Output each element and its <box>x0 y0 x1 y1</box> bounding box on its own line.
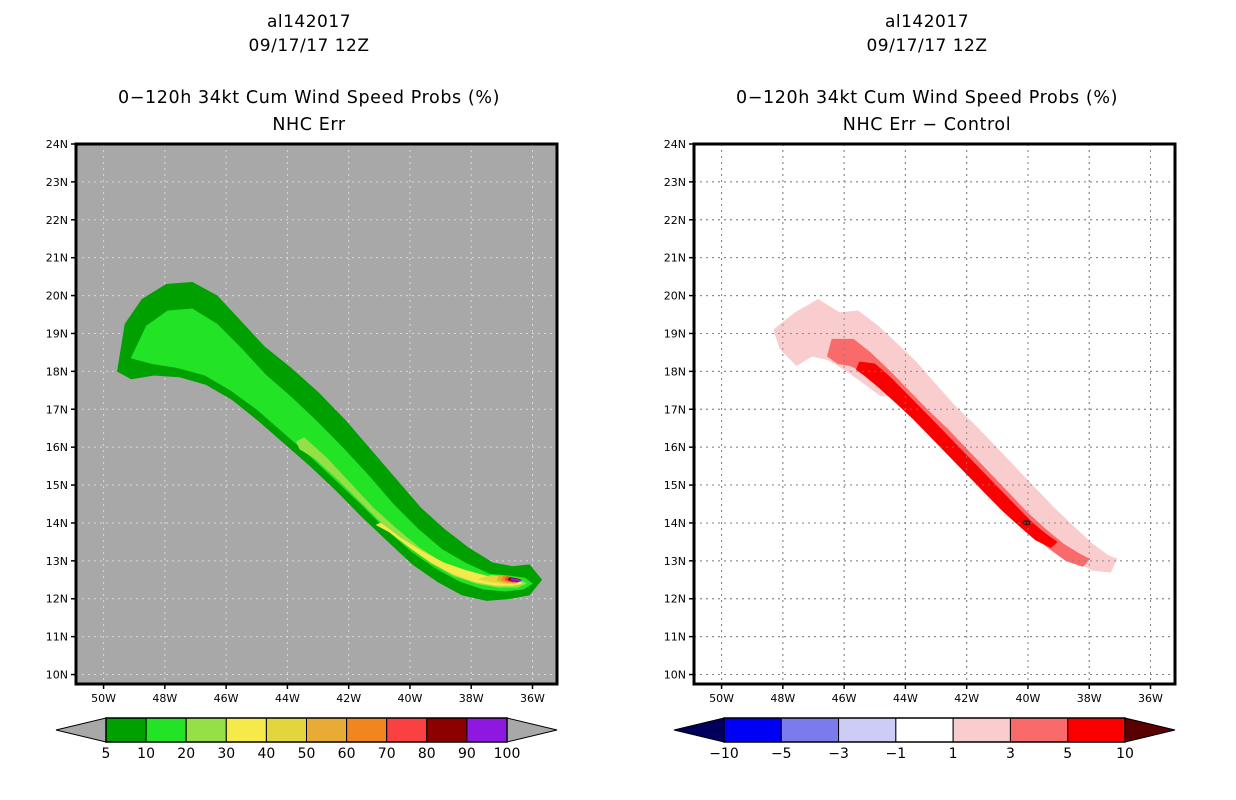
colorbar-tick-label: 50 <box>298 746 316 762</box>
colorbar-swatch-10 <box>146 718 186 742</box>
x-tick-label: 48W <box>770 692 795 705</box>
colorbar-tick-label: 20 <box>177 746 195 762</box>
panel-nhc-err: al142017 09/17/17 12Z 0−120h 34kt Cum Wi… <box>0 0 618 800</box>
y-tick-label: 16N <box>664 441 686 454</box>
colorbar-tick-label: 60 <box>338 746 356 762</box>
x-tick-label: 40W <box>1016 692 1041 705</box>
y-tick-label: 10N <box>664 669 686 682</box>
y-tick-label: 24N <box>46 138 68 151</box>
colorbar-under-arrow <box>674 718 724 742</box>
x-tick-label: 46W <box>214 692 239 705</box>
y-tick-label: 15N <box>46 479 68 492</box>
y-tick-label: 21N <box>664 252 686 265</box>
plot-area-nhc-err-minus-control: 50W48W46W44W42W40W38W36W10N11N12N13N14N1… <box>618 0 1236 710</box>
y-tick-label: 13N <box>46 555 68 568</box>
colorbar-tick-label: 1 <box>949 746 958 762</box>
y-tick-label: 12N <box>46 593 68 606</box>
y-tick-label: 19N <box>664 327 686 340</box>
colorbar-tick-label: −10 <box>709 746 739 762</box>
probability-colorbar[interactable]: 5102030405060708090100 <box>0 705 618 765</box>
y-tick-label: 23N <box>664 176 686 189</box>
colorbar-tick-label: 70 <box>378 746 396 762</box>
x-tick-label: 38W <box>459 692 484 705</box>
colorbar-swatch--10 <box>724 718 781 742</box>
colorbar-swatch-3 <box>1010 718 1067 742</box>
colorbar-tick-label: 5 <box>102 746 111 762</box>
colorbar-tick-label: 90 <box>458 746 476 762</box>
y-tick-label: 12N <box>664 593 686 606</box>
y-tick-label: 24N <box>664 138 686 151</box>
wind-speed-probability-figure: al142017 09/17/17 12Z 0−120h 34kt Cum Wi… <box>0 0 1236 800</box>
colorbar-swatch-90 <box>467 718 507 742</box>
x-tick-label: 44W <box>275 692 300 705</box>
y-tick-label: 11N <box>46 631 68 644</box>
x-tick-label: 40W <box>398 692 423 705</box>
colorbar-swatch-1 <box>953 718 1010 742</box>
colorbar-swatch-5 <box>106 718 146 742</box>
x-tick-label: 48W <box>152 692 177 705</box>
colorbar-swatch--1 <box>896 718 953 742</box>
colorbar-tick-label: 80 <box>418 746 436 762</box>
x-tick-label: 44W <box>893 692 918 705</box>
y-tick-label: 17N <box>46 403 68 416</box>
x-tick-label: 50W <box>91 692 116 705</box>
y-tick-label: 18N <box>46 365 68 378</box>
panel-nhc-err-minus-control: al142017 09/17/17 12Z 0−120h 34kt Cum Wi… <box>618 0 1236 800</box>
y-tick-label: 18N <box>664 365 686 378</box>
colorbar-swatch-80 <box>427 718 467 742</box>
colorbar-swatch-60 <box>347 718 387 742</box>
y-tick-label: 17N <box>664 403 686 416</box>
colorbar-tick-label: 10 <box>1116 746 1134 762</box>
y-tick-label: 22N <box>664 214 686 227</box>
plot-area-nhc-err: 50W48W46W44W42W40W38W36W10N11N12N13N14N1… <box>0 0 618 710</box>
colorbar-swatch-5 <box>1068 718 1125 742</box>
colorbar-swatch--5 <box>781 718 838 742</box>
colorbar-swatch-40 <box>266 718 306 742</box>
colorbar-tick-label: 30 <box>217 746 235 762</box>
colorbar-under-arrow <box>56 718 106 742</box>
y-tick-label: 20N <box>664 290 686 303</box>
colorbar-tick-label: 5 <box>1063 746 1072 762</box>
x-tick-label: 38W <box>1077 692 1102 705</box>
colorbar-tick-label: 10 <box>137 746 155 762</box>
colorbar-tick-label: −5 <box>771 746 792 762</box>
y-tick-label: 11N <box>664 631 686 644</box>
y-tick-label: 10N <box>46 669 68 682</box>
x-tick-label: 46W <box>832 692 857 705</box>
colorbar-tick-label: 3 <box>1006 746 1015 762</box>
x-tick-label: 42W <box>954 692 979 705</box>
colorbar-swatch-70 <box>387 718 427 742</box>
x-tick-label: 50W <box>709 692 734 705</box>
colorbar-over-arrow <box>507 718 557 742</box>
y-tick-label: 16N <box>46 441 68 454</box>
x-tick-label: 42W <box>336 692 361 705</box>
colorbar-swatch-30 <box>226 718 266 742</box>
x-tick-label: 36W <box>520 692 545 705</box>
y-tick-label: 22N <box>46 214 68 227</box>
colorbar-tick-label: 100 <box>494 746 521 762</box>
y-tick-label: 14N <box>46 517 68 530</box>
colorbar-tick-label: −1 <box>886 746 907 762</box>
colorbar-tick-label: 40 <box>257 746 275 762</box>
x-tick-label: 36W <box>1138 692 1163 705</box>
colorbar-swatch--3 <box>839 718 896 742</box>
y-tick-label: 14N <box>664 517 686 530</box>
colorbar-swatch-20 <box>186 718 226 742</box>
colorbar-swatch-50 <box>307 718 347 742</box>
colorbar-over-arrow <box>1125 718 1175 742</box>
colorbar-tick-label: −3 <box>828 746 849 762</box>
y-tick-label: 21N <box>46 252 68 265</box>
y-tick-label: 20N <box>46 290 68 303</box>
y-tick-label: 15N <box>664 479 686 492</box>
y-tick-label: 19N <box>46 327 68 340</box>
difference-colorbar[interactable]: −10−5−3−113510 <box>618 705 1236 765</box>
y-tick-label: 23N <box>46 176 68 189</box>
y-tick-label: 13N <box>664 555 686 568</box>
